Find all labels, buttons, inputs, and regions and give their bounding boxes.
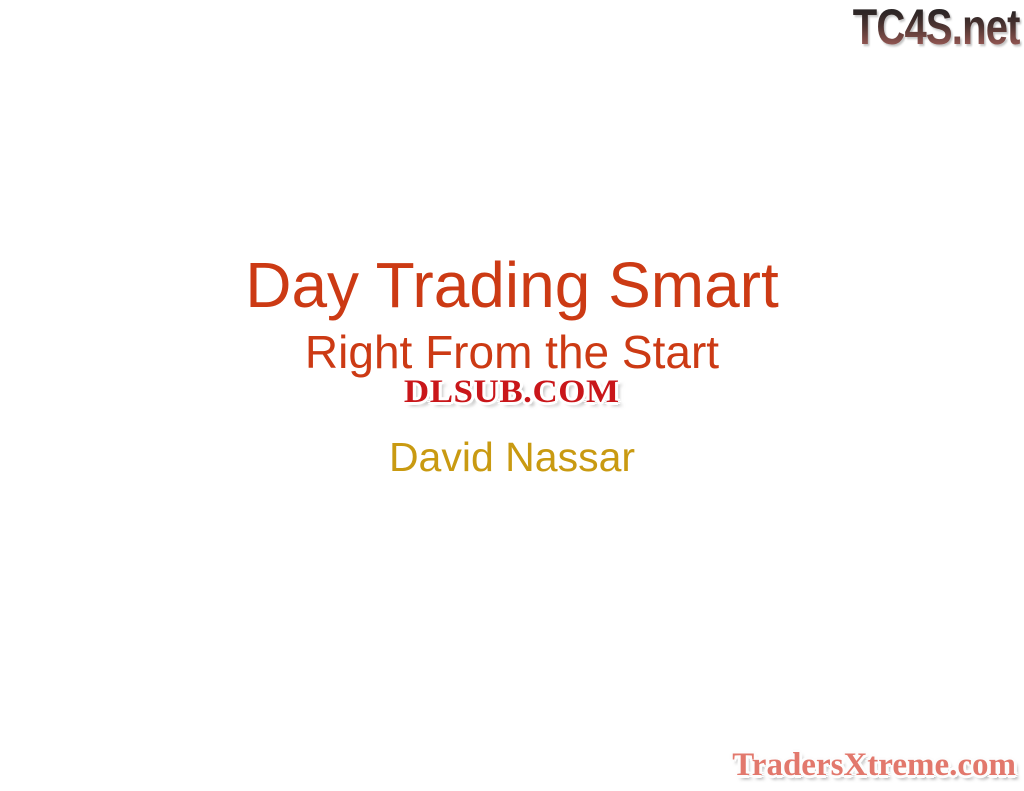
footer-logo-tradersxtreme: TradersXtreme.com [732,748,1016,782]
page-title: Day Trading Smart [0,253,1024,317]
dlsub-watermark-text: DLSUB.COM [404,374,620,410]
dlsub-watermark: DLSUB.COM [0,374,1024,410]
presentation-slide: TC4S.net Day Trading Smart Right From th… [0,0,1024,791]
brand-logo-tc4s: TC4S.net [853,2,1020,52]
page-subtitle: Right From the Start [0,329,1024,375]
author-name: David Nassar [0,437,1024,478]
